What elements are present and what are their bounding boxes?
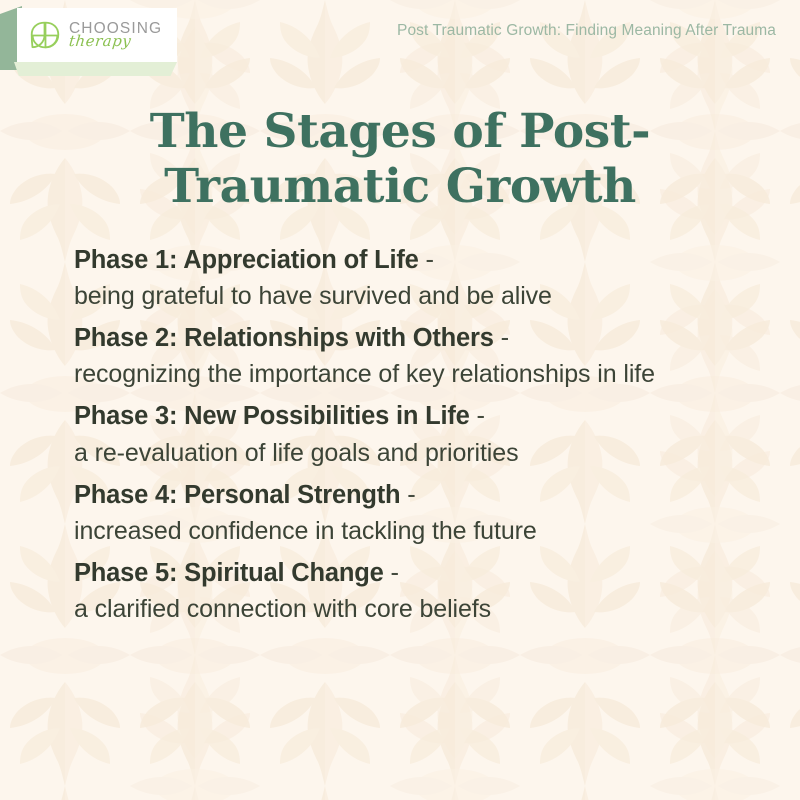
phase-heading: Phase 5: Spiritual Change - — [74, 555, 760, 591]
infographic-canvas: CHOOSING therapy Post Traumatic Growth: … — [0, 0, 800, 800]
phase-dash: - — [470, 402, 485, 430]
phase-dash: - — [400, 481, 415, 509]
phase-heading-text: Phase 3: New Possibilities in Life — [74, 402, 470, 430]
lotus-leaf-logo-icon — [26, 16, 64, 54]
phase-heading-text: Phase 1: Appreciation of Life — [74, 246, 419, 274]
phase-dash: - — [384, 559, 399, 587]
phase-dash: - — [494, 324, 509, 352]
phase-heading: Phase 2: Relationships with Others - — [74, 320, 760, 356]
logo-card[interactable]: CHOOSING therapy — [17, 8, 177, 62]
phase-heading: Phase 4: Personal Strength - — [74, 477, 760, 513]
phase-heading-text: Phase 5: Spiritual Change — [74, 559, 384, 587]
phase-description: a clarified connection with core beliefs — [74, 591, 714, 627]
header-bar: CHOOSING therapy Post Traumatic Growth: … — [0, 0, 800, 78]
phase-item-1: Phase 1: Appreciation of Life - being gr… — [74, 242, 760, 314]
phase-item-2: Phase 2: Relationships with Others - rec… — [74, 320, 760, 392]
article-title-header: Post Traumatic Growth: Finding Meaning A… — [397, 22, 776, 40]
phase-item-3: Phase 3: New Possibilities in Life - a r… — [74, 398, 760, 470]
phase-list: Phase 1: Appreciation of Life - being gr… — [74, 242, 760, 633]
phase-description: being grateful to have survived and be a… — [74, 278, 714, 314]
phase-heading: Phase 3: New Possibilities in Life - — [74, 398, 760, 434]
page-title: The Stages of Post-Traumatic Growth — [0, 104, 800, 214]
phase-heading: Phase 1: Appreciation of Life - — [74, 242, 760, 278]
phase-heading-text: Phase 2: Relationships with Others — [74, 324, 494, 352]
logo-wordmark: CHOOSING therapy — [69, 21, 162, 49]
phase-description: increased confidence in tackling the fut… — [74, 513, 714, 549]
logo-brand-bottom: therapy — [68, 34, 163, 49]
logo-underband-accent — [14, 62, 177, 76]
phase-description: recognizing the importance of key relati… — [74, 356, 714, 392]
phase-description: a re-evaluation of life goals and priori… — [74, 435, 714, 471]
phase-heading-text: Phase 4: Personal Strength — [74, 481, 400, 509]
brand-logo[interactable]: CHOOSING therapy — [0, 0, 200, 78]
phase-item-4: Phase 4: Personal Strength - increased c… — [74, 477, 760, 549]
phase-item-5: Phase 5: Spiritual Change - a clarified … — [74, 555, 760, 627]
phase-dash: - — [419, 246, 434, 274]
